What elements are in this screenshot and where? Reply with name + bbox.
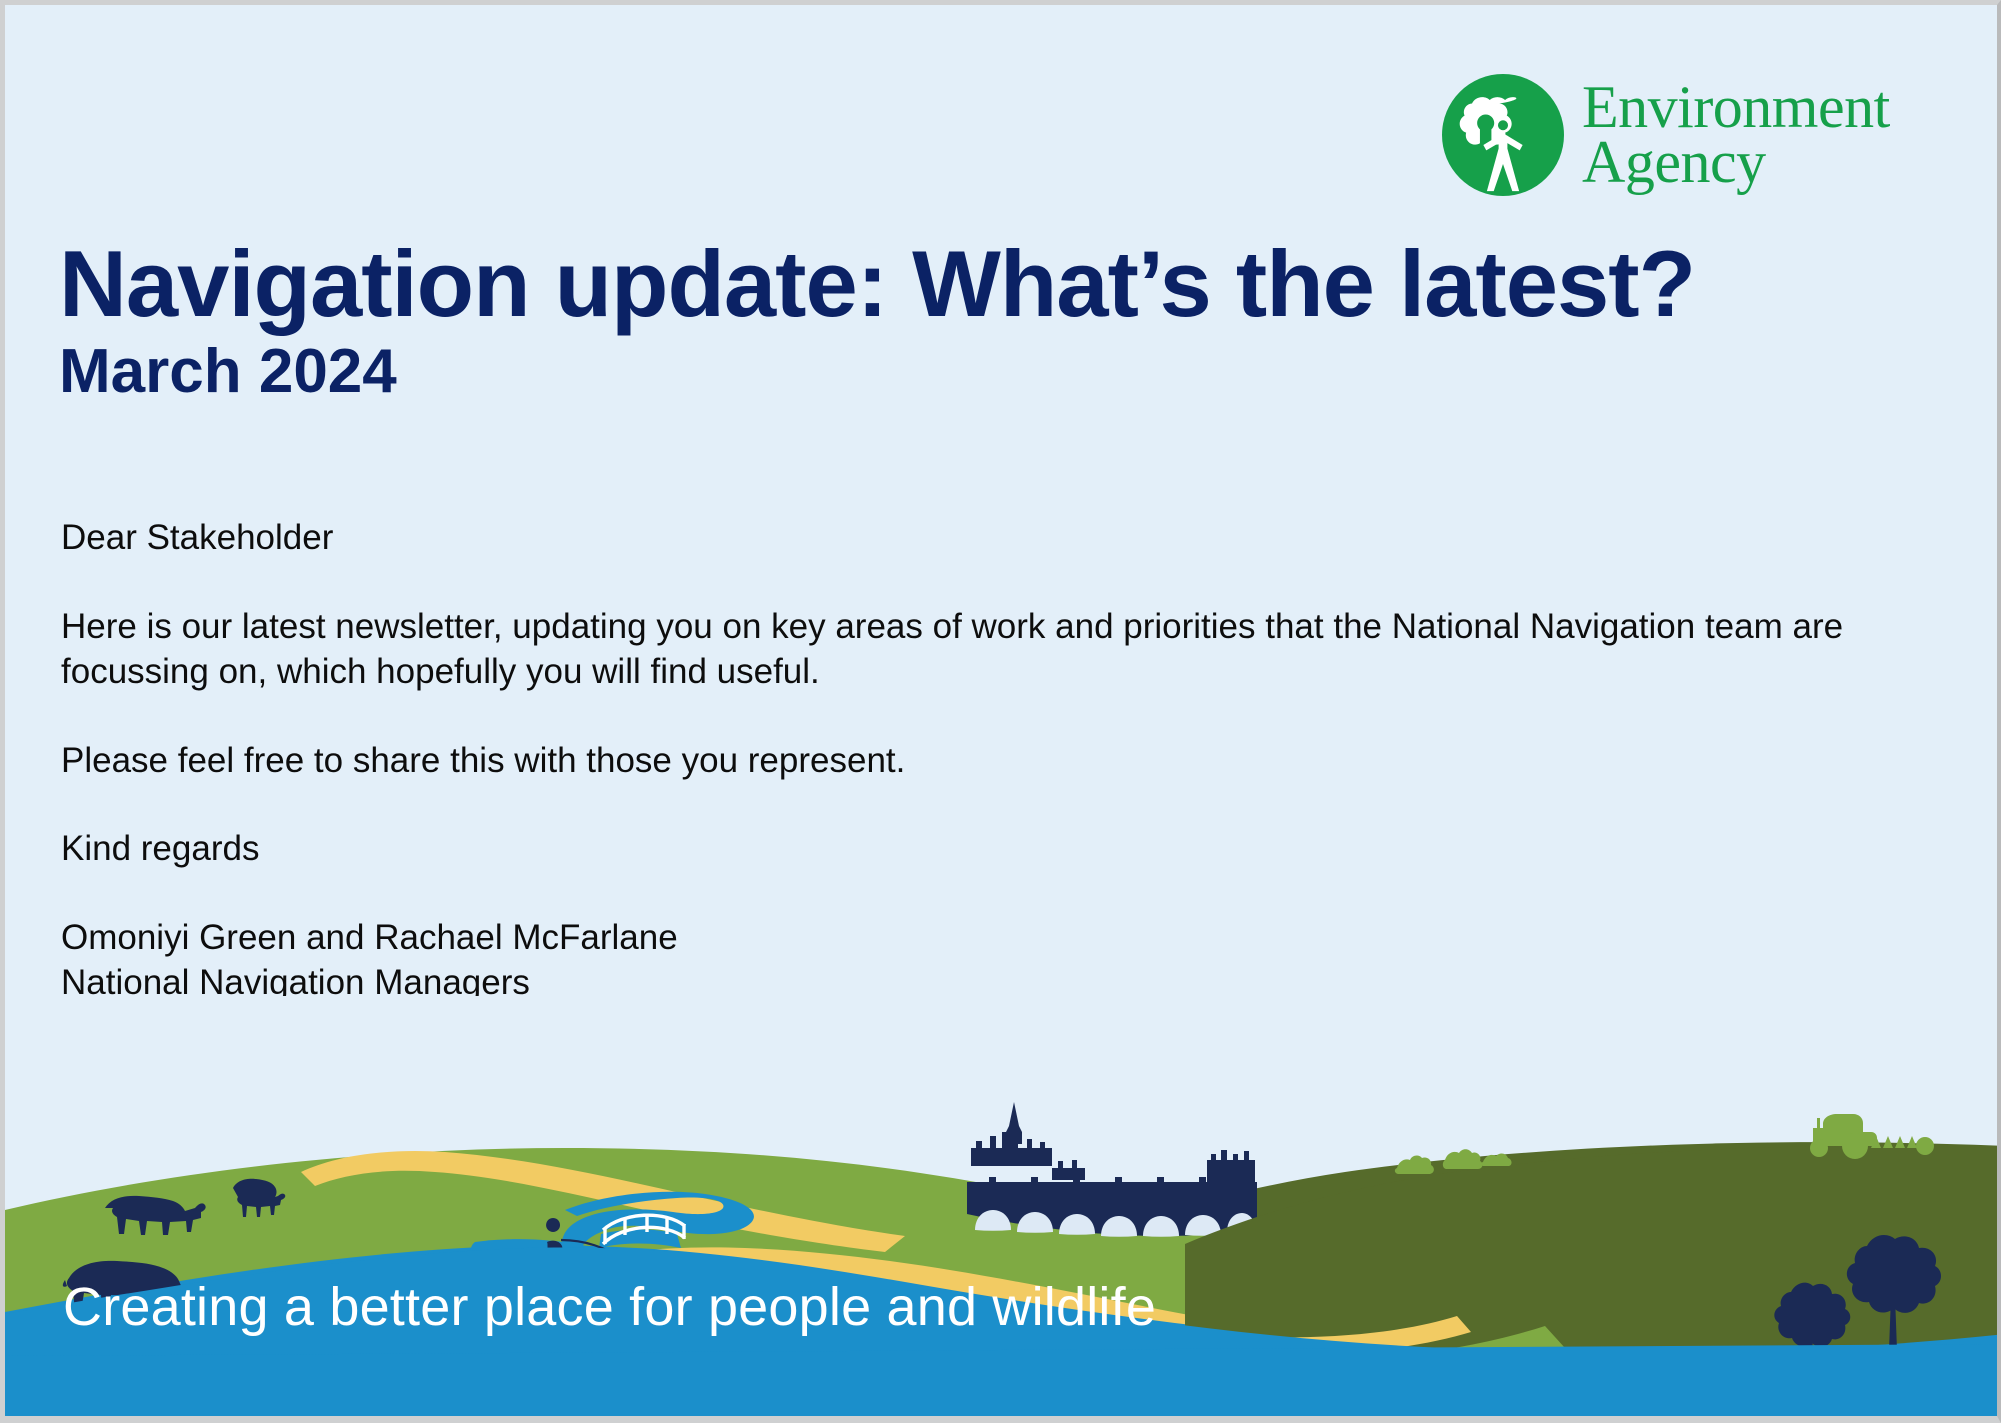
river-base <box>5 1344 2001 1416</box>
letter-body: Dear Stakeholder Here is our latest news… <box>61 515 1921 1006</box>
title-block: Navigation update: What’s the latest? Ma… <box>59 237 1939 403</box>
newsletter-slide: Environment Agency Navigation update: Wh… <box>0 0 2001 1423</box>
body-paragraph-1: Here is our latest newsletter, updating … <box>61 604 1921 695</box>
logo-line-1: Environment <box>1582 80 1890 135</box>
logo-line-2: Agency <box>1582 135 1890 190</box>
page-subtitle: March 2024 <box>59 341 1939 403</box>
logo-wordmark: Environment Agency <box>1582 80 1890 190</box>
environment-agency-tree-person-icon <box>1442 74 1564 196</box>
page-title: Navigation update: What’s the latest? <box>59 237 1939 331</box>
body-paragraph-2: Please feel free to share this with thos… <box>61 738 1921 784</box>
salutation: Dear Stakeholder <box>61 515 1921 561</box>
tagline: Creating a better place for people and w… <box>63 1280 1156 1334</box>
sign-off: Kind regards <box>61 826 1921 872</box>
environment-agency-logo: Environment Agency <box>1442 65 1942 205</box>
authors: Omoniyi Green and Rachael McFarlane <box>61 915 1921 961</box>
countryside-illustration: Creating a better place for people and w… <box>5 996 2001 1416</box>
